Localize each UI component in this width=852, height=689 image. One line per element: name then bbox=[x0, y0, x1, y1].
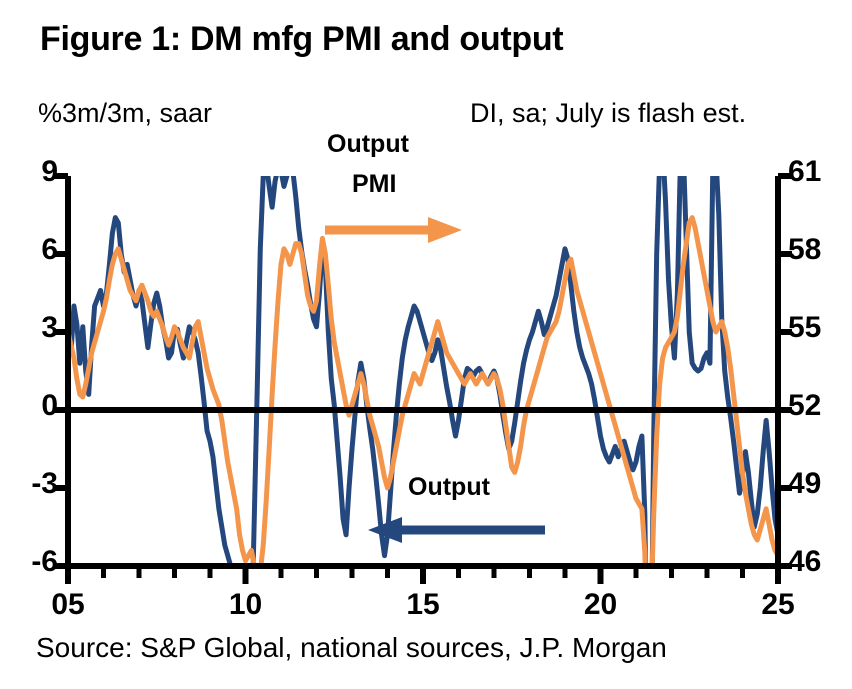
x-axis-tick-label: 15 bbox=[393, 588, 453, 622]
left-axis-tick-label: 6 bbox=[6, 233, 58, 267]
left-axis-tick-label: -6 bbox=[6, 545, 58, 579]
x-axis-tick-label: 20 bbox=[571, 588, 631, 622]
left-axis-tick-label: 0 bbox=[6, 389, 58, 423]
figure-container: Figure 1: DM mfg PMI and output %3m/3m, … bbox=[0, 0, 852, 689]
series-line-output-pmi bbox=[68, 218, 811, 644]
left-axis-tick-label: 9 bbox=[6, 155, 58, 189]
left-axis-tick-label: -3 bbox=[6, 467, 58, 501]
left-axis-tick-label: 3 bbox=[6, 311, 58, 345]
right-axis-tick-label: 58 bbox=[788, 233, 848, 267]
right-axis-tick-label: 55 bbox=[788, 311, 848, 345]
output-left-arrow-icon bbox=[368, 517, 545, 543]
right-axis-tick-label: 49 bbox=[788, 467, 848, 501]
chart-plot-area bbox=[0, 0, 852, 689]
right-axis-tick-label: 52 bbox=[788, 389, 848, 423]
pmi-right-arrow-icon bbox=[325, 217, 462, 243]
right-axis-tick-label: 61 bbox=[788, 155, 848, 189]
right-axis-tick-label: 46 bbox=[788, 545, 848, 579]
x-axis-tick-label: 10 bbox=[216, 588, 276, 622]
x-axis-tick-label: 05 bbox=[38, 588, 98, 622]
x-axis-tick-label: 25 bbox=[748, 588, 808, 622]
